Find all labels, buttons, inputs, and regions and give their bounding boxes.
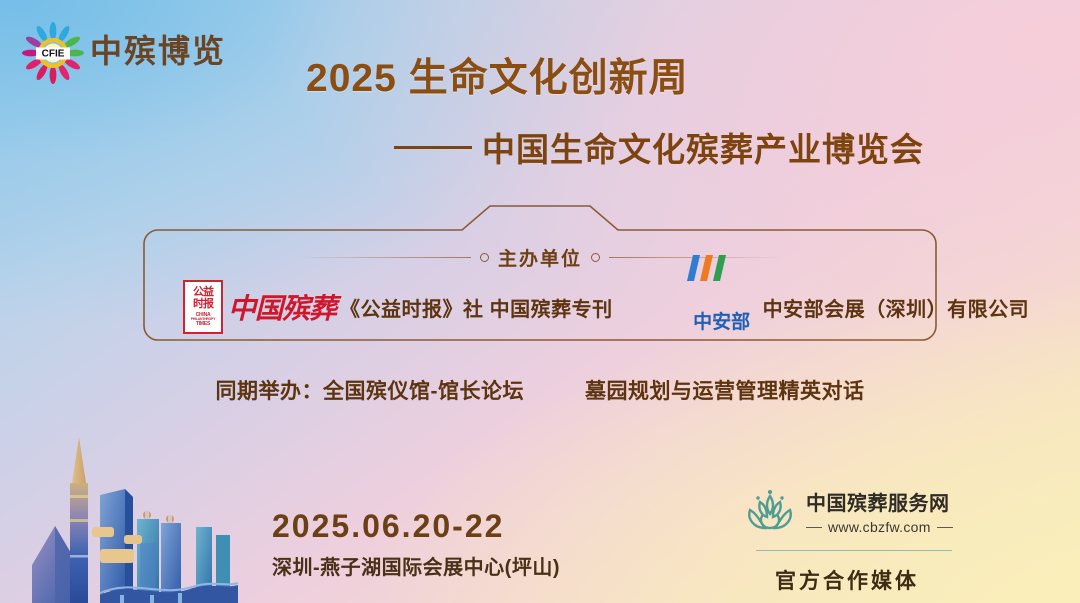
url-dash-right-icon: [937, 527, 953, 528]
media-partner-logo-row: 中国殡葬服务网 www.cbzfw.com: [742, 486, 972, 536]
stamp-line-5: TIMES: [196, 322, 210, 327]
media-partner-url-row: www.cbzfw.com: [806, 519, 953, 535]
panel-header: 主办单位: [143, 244, 937, 271]
stamp-line-1: 公益: [193, 287, 213, 298]
media-partner-names: 中国殡葬服务网 www.cbzfw.com: [806, 487, 953, 535]
ring-right-icon: [591, 253, 600, 262]
stamp-line-2: 时报: [193, 299, 213, 310]
media-divider: [756, 550, 952, 551]
page-subtitle: 中国生命文化殡葬产业博览会: [394, 123, 924, 171]
organizer-panel: 主办单位 公益 时报 CHINA PHILANTHROPY TIMES 中国殡葬…: [143, 224, 937, 344]
organizer-name: 中安部会展（深圳）有限公司: [763, 293, 1030, 322]
media-partner-name: 中国殡葬服务网: [806, 487, 953, 516]
zhonganbu-logo-text: 中安部: [685, 307, 759, 334]
poster-canvas: CFIE 中殡博览 2025 生命文化创新周 中国生命文化殡葬产业博览会 主办单…: [0, 0, 1080, 603]
ring-left-icon: [480, 253, 489, 262]
brand-logo: CFIE 中殡博览: [22, 22, 262, 84]
brand-name: 中殡博览: [90, 28, 226, 74]
calligraphy-logo-text: 中国殡葬: [228, 287, 336, 327]
event-datetime-block: 2025.06.20-22 深圳-燕子湖国际会展中心(坪山): [272, 508, 560, 580]
panel-label: 主办单位: [498, 244, 582, 271]
media-partner-block: 中国殡葬服务网 www.cbzfw.com 官方合作媒体: [742, 486, 972, 595]
lotus-icon: [742, 486, 798, 536]
page-title: 2025 生命文化创新周: [306, 47, 689, 103]
organizer-item: 公益 时报 CHINA PHILANTHROPY TIMES 中国殡葬 《公益时…: [183, 280, 613, 334]
panel-rule-left: [296, 257, 471, 258]
url-dash-left-icon: [806, 527, 822, 528]
organizer-item: 中安部 中安部会展（深圳）有限公司: [685, 279, 1030, 335]
media-partner-caption: 官方合作媒体: [742, 565, 952, 595]
shenzhen-skyline-illustration: [0, 423, 280, 603]
cfie-badge-text: CFIE: [42, 49, 65, 60]
organizer-name: 《公益时报》社 中国殡葬专刊: [340, 293, 613, 322]
forum-item: 同期举办：全国殡仪馆-馆长论坛: [216, 375, 525, 405]
forum-item: 墓园规划与运营管理精英对话: [585, 375, 865, 405]
china-philanthropy-times-stamp-icon: 公益 时报 CHINA PHILANTHROPY TIMES: [183, 280, 223, 334]
organizer-list: 公益 时报 CHINA PHILANTHROPY TIMES 中国殡葬 《公益时…: [143, 276, 937, 338]
flower-petals-icon: CFIE: [22, 22, 84, 84]
subtitle-dash-icon: [394, 146, 472, 149]
forum-line: 同期举办：全国殡仪馆-馆长论坛 墓园规划与运营管理精英对话: [0, 375, 1080, 405]
media-partner-url: www.cbzfw.com: [828, 519, 931, 535]
event-venue: 深圳-燕子湖国际会展中心(坪山): [272, 551, 560, 580]
subtitle-text: 中国生命文化殡葬产业博览会: [482, 123, 924, 171]
event-date: 2025.06.20-22: [272, 508, 560, 545]
zhonganbu-bars-icon: 中安部: [685, 279, 755, 335]
